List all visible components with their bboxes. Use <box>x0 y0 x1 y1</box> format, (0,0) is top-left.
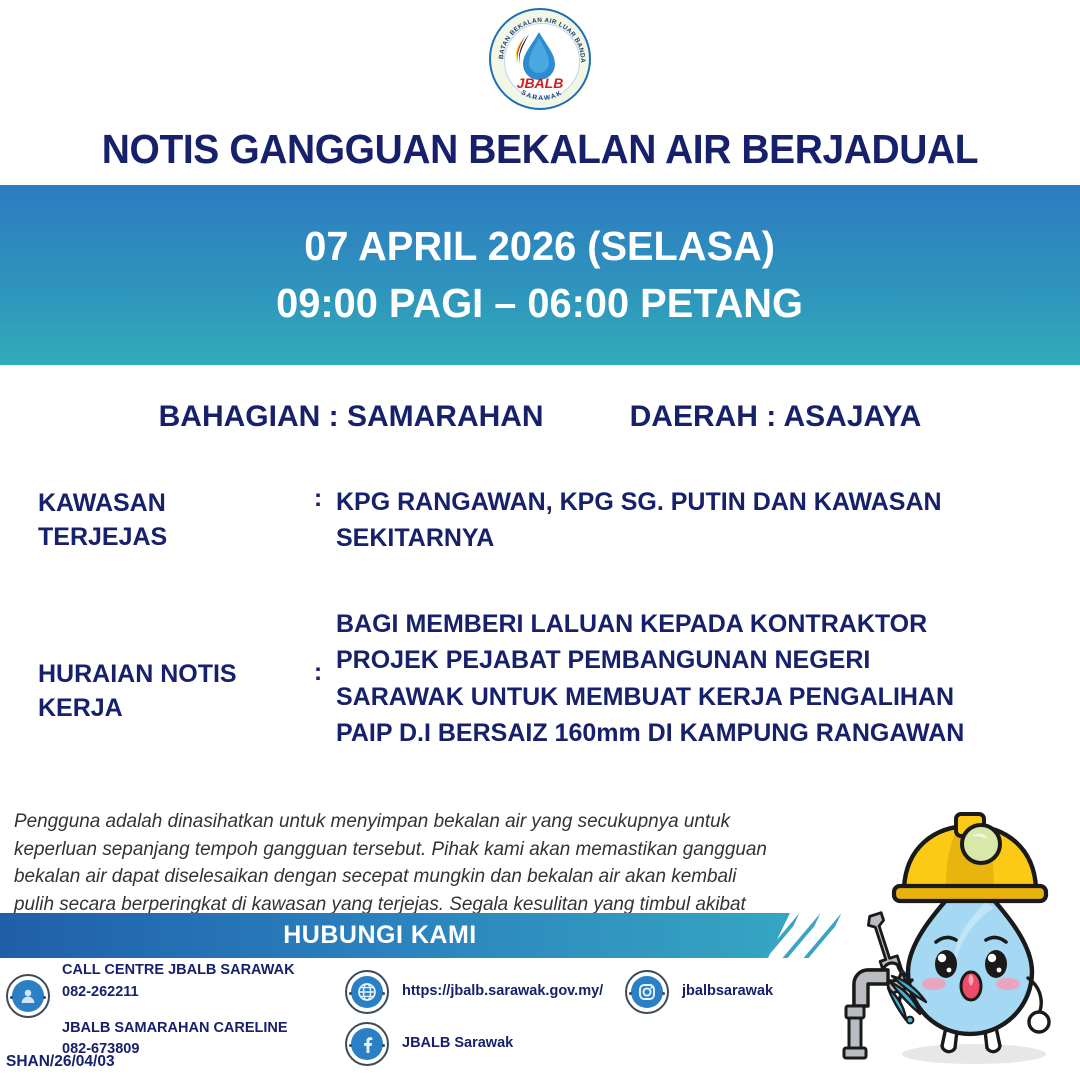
water-disruption-notice-poster: JABATAN BEKALAN AIR LUAR BANDAR SARAWAK … <box>0 0 1080 1080</box>
work-description-label: HURAIAN NOTIS KERJA <box>0 606 300 726</box>
affected-areas-label: KAWASAN TERJEJAS <box>0 484 300 555</box>
person-glyph <box>19 987 37 1005</box>
facebook-block[interactable]: JBALB Sarawak <box>345 1022 513 1066</box>
work-description-colon: : <box>300 606 336 687</box>
instagram-glyph <box>637 982 657 1002</box>
icon-tick-left <box>10 996 13 999</box>
call-centre-number[interactable]: 082-262211 <box>62 982 295 1004</box>
logo-arc-text-bottom: SARAWAK <box>491 10 593 112</box>
page-title: NOTIS GANGGUAN BEKALAN AIR BERJADUAL <box>27 126 1053 173</box>
facebook-icon-disc <box>351 1028 383 1060</box>
call-centre-name: CALL CENTRE JBALB SARAWAK <box>62 960 295 982</box>
logo-arc-bottom-text: SARAWAK <box>520 89 564 102</box>
instagram-block[interactable]: jbalbsarawak <box>625 970 773 1014</box>
call-centre-entry: CALL CENTRE JBALB SARAWAK 082-262211 <box>62 960 295 1004</box>
globe-icon-disc <box>351 976 383 1008</box>
division-district-row: BAHAGIAN : SAMARAHAN DAERAH : ASAJAYA <box>0 400 1080 434</box>
reference-code: SHAN/26/04/03 <box>6 1053 115 1071</box>
disruption-date: 07 APRIL 2026 (SELASA) <box>305 223 776 270</box>
icon-tick-right <box>382 1044 385 1047</box>
icon-tick-right <box>662 992 665 995</box>
instagram-icon[interactable] <box>625 970 669 1014</box>
globe-icon[interactable] <box>345 970 389 1014</box>
mascot-illustration <box>836 792 1080 1080</box>
icon-tick-left <box>349 1044 352 1047</box>
icon-tick-right <box>382 992 385 995</box>
work-description-value: BAGI MEMBERI LALUAN KEPADA KONTRAKTOR PR… <box>336 606 986 751</box>
facebook-icon[interactable] <box>345 1022 389 1066</box>
person-icon <box>6 974 50 1018</box>
careline-name: JBALB SAMARAHAN CARELINE <box>62 1018 295 1040</box>
district-label: DAERAH : ASAJAYA <box>630 400 922 434</box>
disruption-time: 09:00 PAGI – 06:00 PETANG <box>277 280 804 327</box>
date-time-banner: 07 APRIL 2026 (SELASA) 09:00 PAGI – 06:0… <box>0 185 1080 365</box>
website-url[interactable]: https://jbalb.sarawak.gov.my/ <box>402 981 603 1003</box>
svg-text:SARAWAK: SARAWAK <box>520 89 564 102</box>
instagram-handle[interactable]: jbalbsarawak <box>682 981 773 1003</box>
globe-glyph <box>357 982 377 1002</box>
contact-header-bar: HUBUNGI KAMI <box>0 913 840 958</box>
bar-stripe-2 <box>783 913 821 958</box>
icon-tick-right <box>43 996 46 999</box>
icon-tick-left <box>349 992 352 995</box>
contact-bar-label: HUBUNGI KAMI <box>0 913 760 958</box>
work-description-row: HURAIAN NOTIS KERJA : BAGI MEMBERI LALUA… <box>0 606 1080 751</box>
website-block[interactable]: https://jbalb.sarawak.gov.my/ <box>345 970 603 1014</box>
instagram-icon-disc <box>631 976 663 1008</box>
jbalb-logo: JABATAN BEKALAN AIR LUAR BANDAR SARAWAK … <box>489 8 591 110</box>
logo-container: JABATAN BEKALAN AIR LUAR BANDAR SARAWAK … <box>0 8 1080 110</box>
facebook-glyph <box>357 1034 377 1054</box>
person-icon-disc <box>12 980 44 1012</box>
facebook-handle[interactable]: JBALB Sarawak <box>402 1033 513 1055</box>
affected-areas-colon: : <box>300 484 336 513</box>
affected-areas-value: KPG RANGAWAN, KPG SG. PUTIN DAN KAWASAN … <box>336 484 986 557</box>
affected-areas-row: KAWASAN TERJEJAS : KPG RANGAWAN, KPG SG.… <box>0 484 1080 557</box>
icon-tick-left <box>629 992 632 995</box>
division-label: BAHAGIAN : SAMARAHAN <box>159 400 544 434</box>
water-droplet-mascot <box>836 792 1080 1080</box>
